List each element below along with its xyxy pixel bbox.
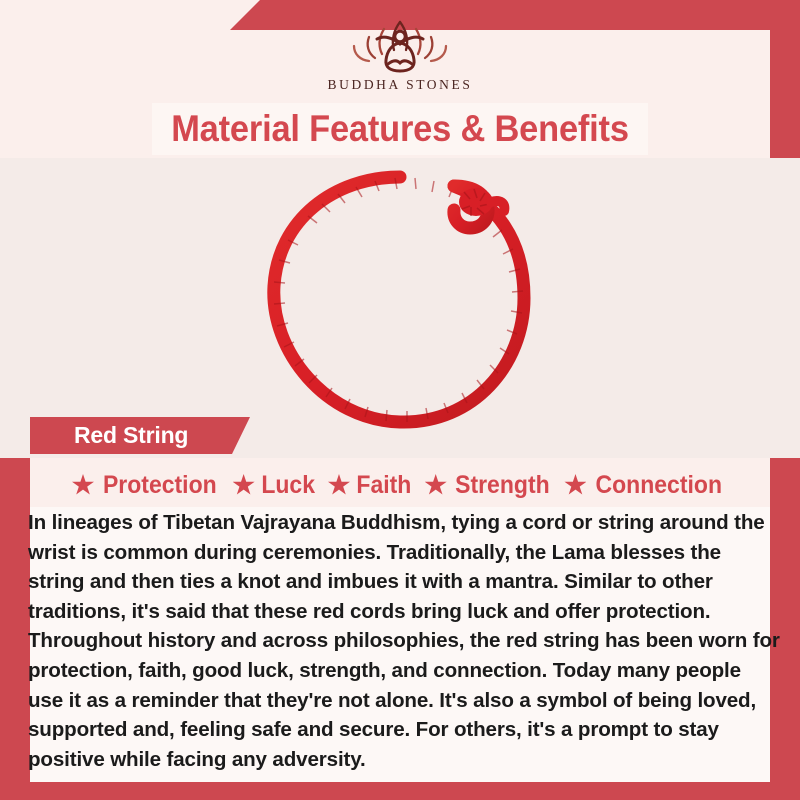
brand-logo: BUDDHA STONES bbox=[0, 8, 800, 93]
benefit-label: Faith bbox=[356, 471, 411, 500]
benefit-label: Luck bbox=[261, 471, 315, 500]
benefit-item-luck: Luck bbox=[233, 471, 317, 500]
benefit-label: Protection bbox=[103, 471, 217, 500]
star-icon bbox=[72, 474, 94, 496]
benefits-list: Protection Luck Faith Strength Connectio… bbox=[0, 463, 800, 507]
star-icon bbox=[564, 474, 586, 496]
brand-name: BUDDHA STONES bbox=[0, 77, 800, 93]
red-string-bracelet-image bbox=[248, 168, 558, 440]
benefit-item-faith: Faith bbox=[328, 471, 414, 500]
description-text: In lineages of Tibetan Vajrayana Buddhis… bbox=[28, 508, 780, 774]
benefit-item-strength: Strength bbox=[425, 471, 554, 500]
star-icon bbox=[425, 474, 447, 496]
infographic-poster: BUDDHA STONES Material Features & Benefi… bbox=[0, 0, 800, 800]
benefit-item-protection: Protection bbox=[72, 471, 222, 500]
star-icon bbox=[233, 474, 255, 496]
page-title: Material Features & Benefits bbox=[28, 103, 772, 155]
product-label-text: Red String bbox=[74, 417, 188, 454]
benefit-label: Strength bbox=[455, 471, 550, 500]
benefit-label: Connection bbox=[596, 471, 723, 500]
decorative-bottom-bar bbox=[0, 782, 800, 800]
lotus-meditation-icon bbox=[326, 8, 474, 76]
star-icon bbox=[328, 474, 350, 496]
benefit-item-connection: Connection bbox=[564, 471, 728, 500]
